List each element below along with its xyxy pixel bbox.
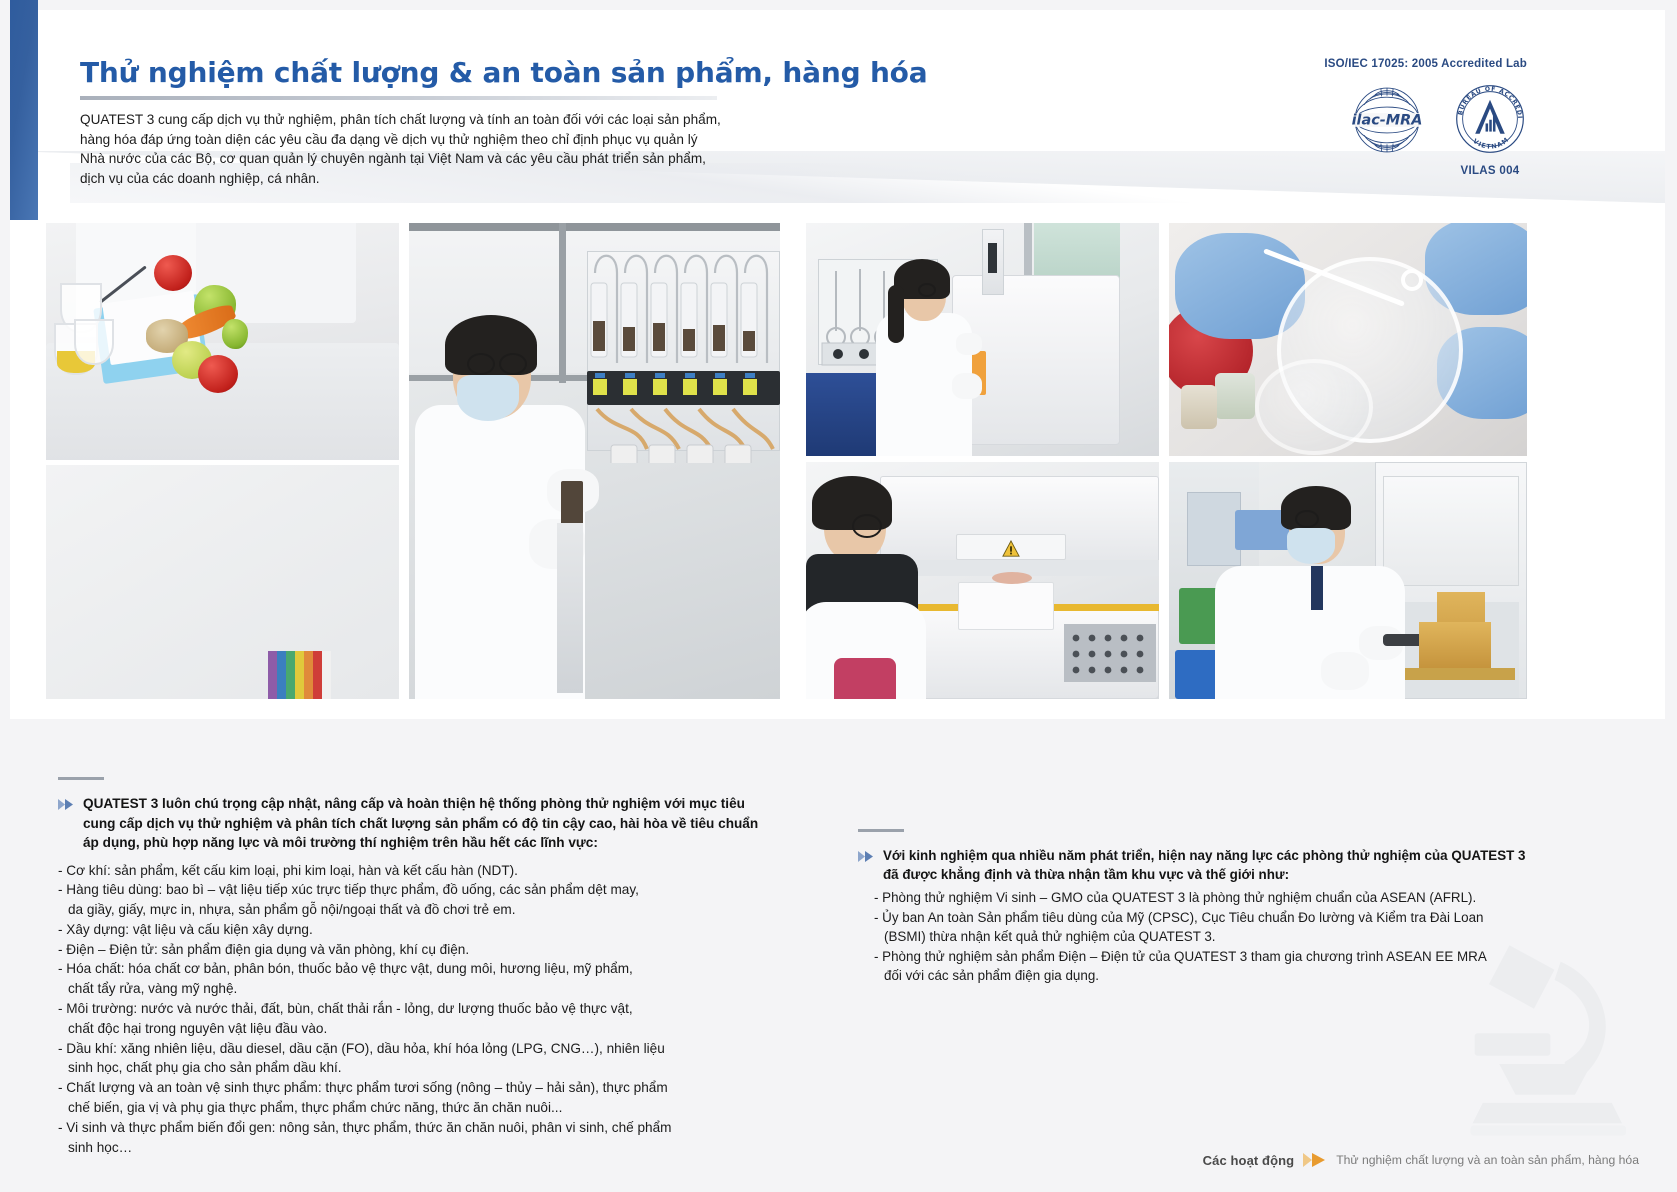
ilac-mra-logo-wrap: ilac-MRA — [1349, 82, 1425, 163]
boa-vietnam-icon: BUREAU OF ACCREDITATION VIETNAM — [1453, 82, 1527, 156]
intro-line-4: dịch vụ của các doanh nghiệp, cá nhân. — [80, 169, 730, 189]
list-item: - Ủy ban An toàn Sản phẩm tiêu dùng của … — [874, 908, 1598, 928]
vilas-code-label: VILAS 004 — [1453, 165, 1527, 177]
footer-chevron-icon — [1303, 1152, 1327, 1168]
capabilities-lead-line-2: cung cấp dịch vụ thử nghiệm và phân tích… — [83, 814, 758, 834]
chevron-bullet-icon — [858, 850, 874, 863]
recognition-column: Với kinh nghiệm qua nhiều năm phát triển… — [858, 829, 1598, 986]
sample-tray-holes-graphic — [1068, 630, 1152, 678]
list-item: - Môi trường: nước và nước thải, đất, bù… — [58, 999, 778, 1019]
accreditation-block: ISO/IEC 17025: 2005 Accredited Lab — [1197, 58, 1527, 177]
food-inspection-photo — [46, 223, 399, 460]
page-frame-right — [1665, 0, 1677, 1192]
svg-text:BUREAU OF ACCREDITATION: BUREAU OF ACCREDITATION — [1453, 82, 1523, 119]
footer-section-label: Các hoạt động — [1203, 1153, 1295, 1168]
recognition-lead-line-1: Với kinh nghiệm qua nhiều năm phát triển… — [883, 846, 1525, 865]
recognition-bullet-list: - Phòng thử nghiệm Vi sinh – GMO của QUA… — [858, 888, 1598, 986]
list-item: - Hóa chất: hóa chất cơ bản, phân bón, t… — [58, 959, 778, 979]
list-item: - Chất lượng và an toàn vệ sinh thực phẩ… — [58, 1078, 778, 1098]
spectrometer-operator-photo — [806, 223, 1159, 456]
accreditation-logos: ilac-MRA BUREAU OF ACCREDITATION VIETNAM — [1197, 82, 1527, 177]
page-frame-left — [0, 0, 10, 1192]
recognition-lead-line-2: đã được khẳng định và thừa nhận tầm khu … — [883, 865, 1525, 884]
list-item: - Xây dựng: vật liệu và cấu kiện xây dựn… — [58, 920, 778, 940]
intro-paragraph: QUATEST 3 cung cấp dịch vụ thử nghiệm, p… — [80, 110, 730, 188]
ilac-mra-icon: ilac-MRA — [1349, 82, 1425, 158]
page-frame-top — [0, 0, 1677, 10]
petri-dish-photo — [1169, 223, 1527, 456]
page-title: Thử nghiệm chất lượng & an toàn sản phẩm… — [80, 56, 927, 89]
list-item-cont: chế biến, gia vị và phụ gia thực phẩm, t… — [58, 1098, 778, 1118]
list-item: - Phòng thử nghiệm Vi sinh – GMO của QUA… — [874, 888, 1598, 908]
list-item: - Hàng tiêu dùng: bao bì – vật liệu tiếp… — [58, 880, 778, 900]
list-item: - Vi sinh và thực phẩm biến đổi gen: nôn… — [58, 1118, 778, 1138]
photo-gallery — [10, 203, 1665, 719]
wire-mesh-photo — [46, 465, 399, 699]
title-underline-rule — [80, 96, 717, 100]
electronics-test-photo — [1169, 462, 1527, 699]
capabilities-lead: QUATEST 3 luôn chú trọng cập nhật, nâng … — [83, 794, 758, 853]
capabilities-lead-line-1: QUATEST 3 luôn chú trọng cập nhật, nâng … — [83, 794, 758, 814]
capabilities-column: QUATEST 3 luôn chú trọng cập nhật, nâng … — [58, 777, 778, 1157]
page-frame-bottom — [0, 1182, 1677, 1192]
list-item-cont: (BSMI) thừa nhận kết quả thử nghiệm của … — [874, 927, 1598, 947]
intro-line-3: Nhà nước của các Bộ, cơ quan quản lý chu… — [80, 149, 730, 169]
intro-line-2: hàng hóa đáp ứng toàn diện các yêu cầu đ… — [80, 130, 730, 150]
boa-vietnam-logo-wrap: BUREAU OF ACCREDITATION VIETNAM VILAS 00… — [1453, 82, 1527, 177]
list-item-cont: chất độc hại trong nguyên vật liệu đầu v… — [58, 1019, 778, 1039]
accreditation-title: ISO/IEC 17025: 2005 Accredited Lab — [1197, 58, 1527, 70]
footer-section-text: Thử nghiệm chất lượng và an toàn sản phẩ… — [1336, 1153, 1639, 1167]
chevron-bullet-icon — [58, 798, 74, 811]
list-item: - Điện – Điện tử: sản phẩm điện gia dụng… — [58, 940, 778, 960]
recognition-lead: Với kinh nghiệm qua nhiều năm phát triển… — [883, 846, 1525, 884]
left-column-rule — [58, 777, 104, 780]
page-footer: Các hoạt động Thử nghiệm chất lượng và a… — [1203, 1152, 1639, 1168]
list-item-cont: sinh học… — [58, 1138, 778, 1158]
intro-line-1: QUATEST 3 cung cấp dịch vụ thử nghiệm, p… — [80, 110, 730, 130]
laser-warning-icon — [1002, 540, 1020, 558]
lower-content-area: QUATEST 3 luôn chú trọng cập nhật, nâng … — [10, 719, 1665, 1182]
list-item-cont: sinh học, chất phụ gia cho sản phẩm dầu … — [58, 1058, 778, 1078]
chemistry-extraction-photo — [409, 223, 780, 699]
color-calibration-chart — [268, 651, 331, 699]
list-item: - Phòng thử nghiệm sản phẩm Điện – Điện … — [874, 947, 1598, 967]
capabilities-lead-line-3: áp dụng, phù hợp năng lực và môi trường … — [83, 833, 758, 853]
right-column-rule — [858, 829, 904, 832]
list-item-cont: đối với các sản phẩm điện gia dụng. — [874, 966, 1598, 986]
page-root: Thử nghiệm chất lượng & an toàn sản phẩm… — [0, 0, 1677, 1192]
list-item-cont: chất tẩy rửa, vàng mỹ nghệ. — [58, 979, 778, 999]
svg-text:ilac-MRA: ilac-MRA — [1352, 113, 1423, 129]
list-item: - Cơ khí: sản phẩm, kết cấu kim loại, ph… — [58, 861, 778, 881]
left-accent-bar — [10, 0, 38, 220]
capabilities-bullet-list: - Cơ khí: sản phẩm, kết cấu kim loại, ph… — [58, 861, 778, 1158]
laser-instrument-photo — [806, 462, 1159, 699]
glassware-rack-graphic — [587, 243, 780, 463]
list-item-cont: da giầy, giấy, mực in, nhựa, sản phẩm gỗ… — [58, 900, 778, 920]
list-item: - Dầu khí: xăng nhiên liệu, dầu diesel, … — [58, 1039, 778, 1059]
